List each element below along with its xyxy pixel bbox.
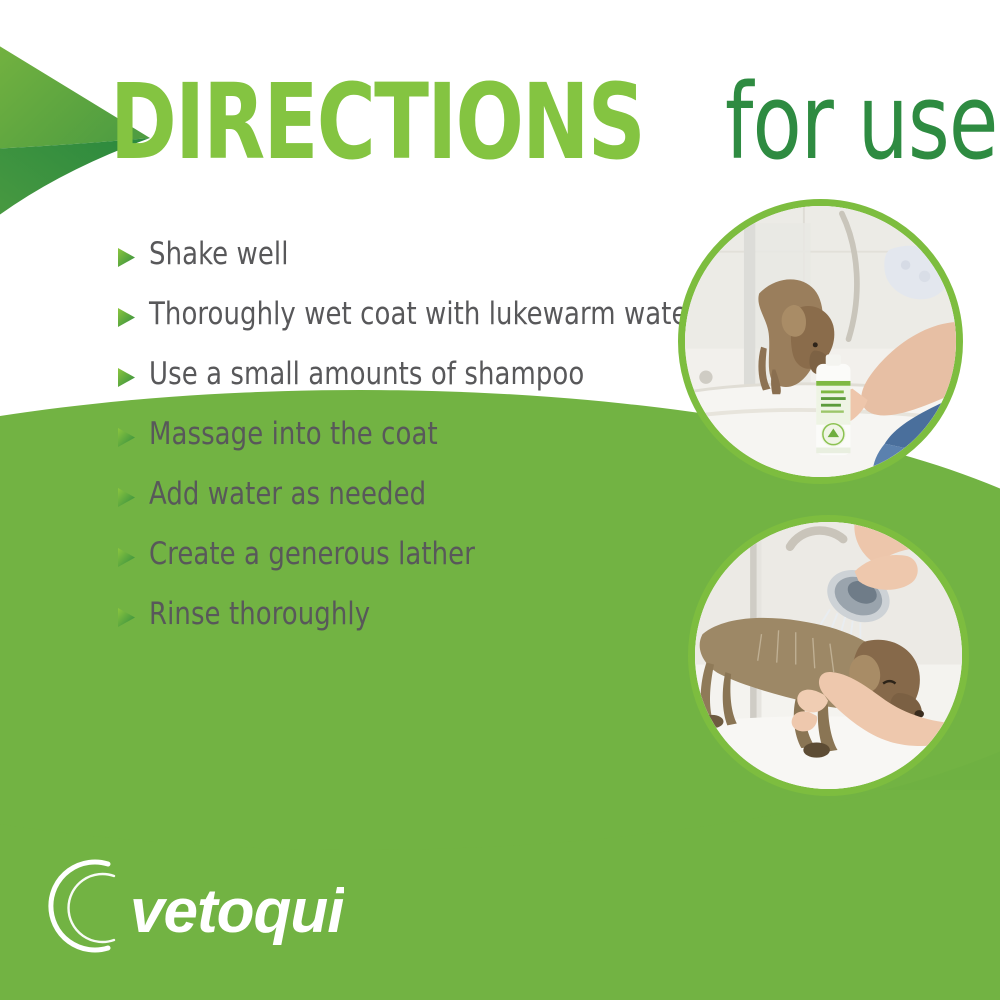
triangle-bullet-icon	[118, 428, 135, 447]
list-item-label: Use a small amounts of shampoo	[149, 356, 584, 392]
list-item-label: Rinse thoroughly	[149, 596, 370, 632]
list-item-label: Thoroughly wet coat with lukewarm water	[149, 296, 698, 332]
vetoquinol-logo: vetoquinoL	[44, 850, 344, 960]
triangle-bullet-icon	[118, 548, 135, 567]
svg-text:vetoquinoL: vetoquinoL	[130, 877, 344, 946]
list-item-label: Shake well	[149, 236, 289, 272]
list-item: Thoroughly wet coat with lukewarm water	[118, 296, 740, 356]
list-item: Rinse thoroughly	[118, 596, 740, 656]
list-item-label: Add water as needed	[149, 476, 426, 512]
directions-for-use-page: DIRECTIONSfor use Shake well Thoroughly …	[0, 0, 1000, 1000]
triangle-bullet-icon	[118, 368, 135, 387]
triangle-bullet-icon	[118, 488, 135, 507]
list-item-label: Create a generous lather	[149, 536, 475, 572]
page-title-bold: DIRECTIONS	[110, 70, 644, 174]
photo-dog-rinse-showerhead	[688, 515, 969, 796]
page-title: DIRECTIONSfor use	[110, 70, 1000, 174]
list-item-label: Massage into the coat	[149, 416, 438, 452]
triangle-bullet-icon	[118, 248, 135, 267]
list-item: Use a small amounts of shampoo	[118, 356, 740, 416]
photo-dog-bathtub-shampoo	[678, 199, 963, 484]
list-item: Shake well	[118, 236, 740, 296]
list-item: Massage into the coat	[118, 416, 740, 476]
list-item: Add water as needed	[118, 476, 740, 536]
list-item: Create a generous lather	[118, 536, 740, 596]
page-title-light: for use	[725, 70, 998, 174]
directions-list: Shake well Thoroughly wet coat with luke…	[118, 236, 740, 656]
triangle-bullet-icon	[118, 608, 135, 627]
vetoquinol-arc-icon	[51, 862, 114, 950]
triangle-bullet-icon	[118, 308, 135, 327]
